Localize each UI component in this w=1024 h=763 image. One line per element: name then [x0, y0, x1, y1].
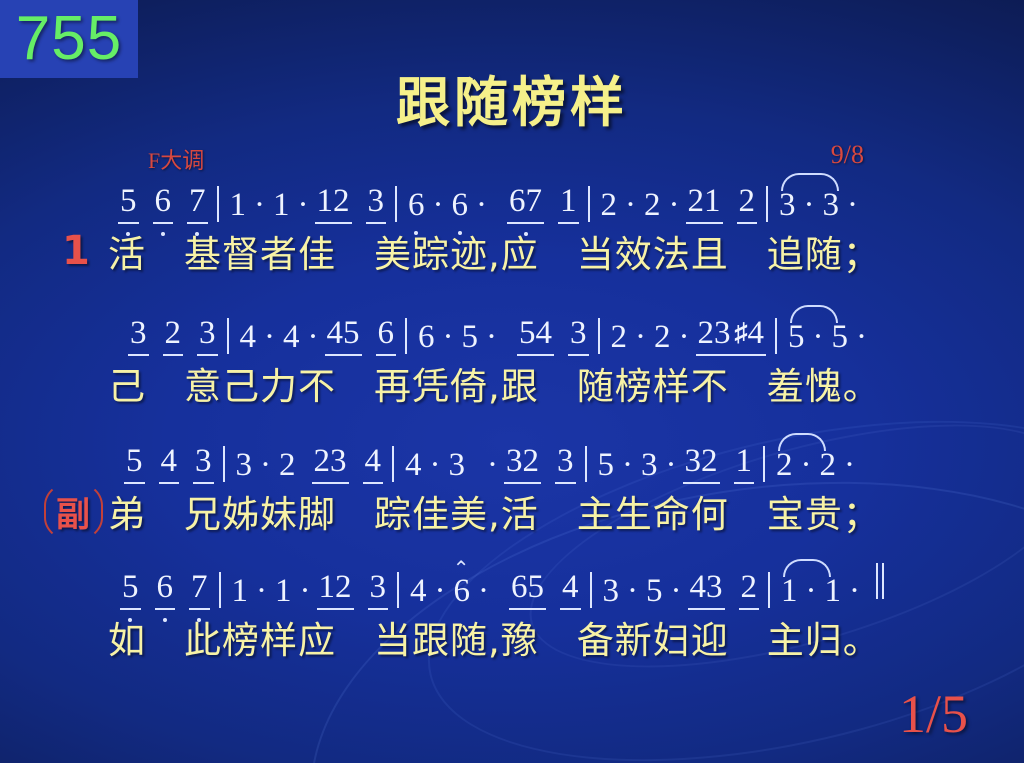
note: 1 [823, 573, 844, 610]
notation-line-4: 5 6 7 1· 1· 12 3 4· 6· 65 4 3· 5· 43 2 1… [0, 564, 1024, 610]
barline [405, 318, 407, 354]
duration-dot: · [843, 573, 866, 610]
duration-dot: · [437, 319, 460, 356]
duration-dot: · [427, 187, 450, 224]
duration-dot: · [254, 447, 277, 484]
note: 2 [642, 187, 663, 224]
duration-dot: · [838, 447, 861, 484]
note: 6 [416, 319, 437, 356]
duration-dot: · [841, 187, 864, 224]
note: 32 [683, 443, 720, 484]
lyrics-text: 弟 兄姊妹脚 踪佳美,活 主生命何 宝贵； [108, 484, 881, 538]
note: 5 [460, 319, 481, 356]
stave-4: 5 6 7 1· 1· 12 3 4· 6· 65 4 3· 5· 43 2 1… [0, 564, 1024, 664]
note: 1 [230, 573, 251, 610]
duration-dot: · [258, 319, 281, 356]
note: 43 [688, 569, 725, 610]
barline [397, 572, 399, 608]
note: 23 [312, 443, 349, 484]
duration-dot: · [795, 447, 818, 484]
lyrics-line-4: 如 此榜样应 当跟随,豫 备新妇迎 主归。 [0, 610, 1024, 664]
duration-dot: · [248, 187, 271, 224]
duration-dot: · [660, 447, 683, 484]
barline [768, 572, 770, 608]
barline [227, 318, 229, 354]
note: 32 [504, 443, 541, 484]
note: 2 [599, 187, 620, 224]
duration-dot: · [673, 319, 696, 356]
duration-dot: · [807, 319, 830, 356]
duration-dot: · [665, 573, 688, 610]
note: 1 [558, 183, 579, 224]
note: 6 [153, 183, 174, 224]
final-double-barline [876, 563, 888, 608]
barline [763, 446, 765, 482]
note: 3 [193, 443, 214, 484]
barline [775, 318, 777, 354]
notation-line-1: 5 6 7 1· 1· 12 3 6· 6· 67 1 2· 2· 21 2 3… [0, 178, 1024, 224]
note: 2 [277, 447, 298, 484]
note: 4 [281, 319, 302, 356]
notation-line-2: 3 2 3 4· 4· 45 6 6· 5· 54 3 2· 2· 23♯4 5… [0, 310, 1024, 356]
note: 1 [228, 187, 249, 224]
barline [223, 446, 225, 482]
note: 5 [120, 569, 141, 610]
note: 3 [555, 443, 576, 484]
barline [766, 186, 768, 222]
decorative-swoosh-3 [504, 375, 1024, 717]
barline [585, 446, 587, 482]
stave-2: 3 2 3 4· 4· 45 6 6· 5· 54 3 2· 2· 23♯4 5… [0, 310, 1024, 410]
note: 5 [830, 319, 851, 356]
note: 1 [734, 443, 755, 484]
duration-dot: · [619, 187, 642, 224]
duration-dot: · [429, 573, 452, 610]
key-signature: F大调 [148, 143, 204, 175]
note: 2 [774, 447, 795, 484]
stave-3: 5 4 3 3· 2 23 4 4· 3· 32 3 5· 3· 32 1 2·… [0, 438, 1024, 538]
duration-dot: · [800, 573, 823, 610]
note: 4 [159, 443, 180, 484]
note: 3 [234, 447, 255, 484]
note: 2 [737, 183, 758, 224]
note: 4 [403, 447, 424, 484]
time-signature: 9/8 [831, 140, 864, 170]
note: 3 [601, 573, 622, 610]
note: 23 [696, 315, 733, 356]
note: 12 [317, 569, 354, 610]
note: 5 [644, 573, 665, 610]
duration-dot: · [850, 319, 873, 356]
note: 1 [273, 573, 294, 610]
lyrics-text: 活 基督者佳 美踪迹,应 当效法且 追随； [108, 224, 881, 278]
note: 3 [821, 187, 842, 224]
note: 6 [406, 187, 427, 224]
duration-dot: · [663, 187, 686, 224]
note: 45 [325, 315, 362, 356]
note: 3 [777, 187, 798, 224]
duration-dot: · [470, 187, 493, 224]
duration-dot: · [292, 187, 315, 224]
note: 4 [560, 569, 581, 610]
note: 6 [155, 569, 176, 610]
note: 5 [786, 319, 807, 356]
lyrics-line-1: 1 活 基督者佳 美踪迹,应 当效法且 追随； [0, 224, 1024, 278]
note: 12 [315, 183, 352, 224]
note: 3 [568, 315, 589, 356]
barline [217, 186, 219, 222]
duration-dot: · [616, 447, 639, 484]
note: 3 [366, 183, 387, 224]
duration-dot: · [621, 573, 644, 610]
note: 2 [609, 319, 630, 356]
note: 2 [818, 447, 839, 484]
note: 5 [124, 443, 145, 484]
note: 5 [118, 183, 139, 224]
duration-dot: · [250, 573, 273, 610]
duration-dot: · [472, 573, 495, 610]
page-number: 1/5 [899, 683, 968, 745]
note: 21 [686, 183, 723, 224]
note: 4 [238, 319, 259, 356]
note-sharp: ♯4 [733, 315, 767, 356]
note: 3 [368, 569, 389, 610]
note: 54 [517, 315, 554, 356]
barline [219, 572, 221, 608]
duration-dot: · [629, 319, 652, 356]
duration-dot: · [302, 319, 325, 356]
duration-dot: · [481, 447, 504, 484]
note: 1 [271, 187, 292, 224]
note: 2 [163, 315, 184, 356]
lyrics-line-3: 副 弟 兄姊妹脚 踪佳美,活 主生命何 宝贵； [0, 484, 1024, 538]
note: 7 [189, 569, 210, 610]
note: 67 [507, 183, 544, 224]
note: 2 [652, 319, 673, 356]
note: 65 [509, 569, 546, 610]
lyrics-text: 己 意己力不 再凭倚,跟 随榜样不 羞愧。 [108, 356, 881, 410]
notation-line-3: 5 4 3 3· 2 23 4 4· 3· 32 3 5· 3· 32 1 2·… [0, 438, 1024, 484]
chorus-marker: 副 [44, 481, 103, 542]
duration-dot: · [480, 319, 503, 356]
duration-dot: · [294, 573, 317, 610]
note: 3 [639, 447, 660, 484]
page-title: 跟随榜样 [0, 58, 1024, 137]
lyrics-text: 如 此榜样应 当跟随,豫 备新妇迎 主归。 [108, 610, 881, 664]
barline [395, 186, 397, 222]
barline [392, 446, 394, 482]
note: 6 [376, 315, 397, 356]
barline [588, 186, 590, 222]
note: 7 [187, 183, 208, 224]
note: 3 [447, 447, 468, 484]
stave-1: 5 6 7 1· 1· 12 3 6· 6· 67 1 2· 2· 21 2 3… [0, 178, 1024, 278]
barline [590, 572, 592, 608]
barline [598, 318, 600, 354]
note-accented: 6 [452, 573, 473, 610]
note: 4 [408, 573, 429, 610]
duration-dot: · [798, 187, 821, 224]
slide-canvas: 755 跟随榜样 F大调 9/8 5 6 7 1· 1· 12 3 6· 6· … [0, 0, 1024, 763]
note: 4 [363, 443, 384, 484]
lyrics-line-2: 己 意己力不 再凭倚,跟 随榜样不 羞愧。 [0, 356, 1024, 410]
note: 6 [450, 187, 471, 224]
note: 2 [739, 569, 760, 610]
note: 3 [197, 315, 218, 356]
note: 5 [596, 447, 617, 484]
verse-number: 1 [62, 228, 91, 274]
note: 3 [128, 315, 149, 356]
duration-dot: · [424, 447, 447, 484]
note: 1 [779, 573, 800, 610]
